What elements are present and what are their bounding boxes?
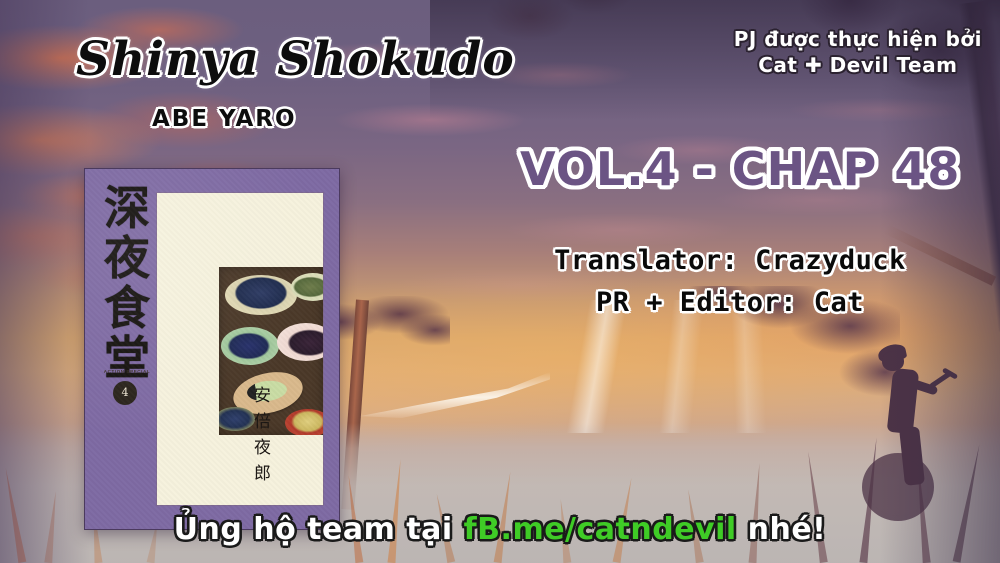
series-author: ABE YARO [152, 106, 297, 132]
support-banner-suffix: nhé! [737, 512, 827, 547]
staff-credits: Translator: Crazyduck PR + Editor: Cat [500, 240, 960, 324]
team-credit-line-1: PJ được thực hiện bởi [734, 26, 982, 52]
food-red-bowl [285, 409, 323, 435]
book-cover-image: 安 倍 夜 郎 深 夜 食 堂 ACTION SPECIAL 4 [84, 168, 340, 530]
series-title: Shinya Shokudo [76, 34, 515, 86]
book-author-kanji-char: 安 [243, 383, 283, 409]
book-cover-volume-badge: 4 [113, 381, 137, 405]
book-title-kanji-char: 夜 [91, 233, 163, 283]
team-credit-line-2: Cat ✚ Devil Team [734, 52, 982, 78]
support-banner: Ủng hộ team tại fB.me/catndevil nhé! [0, 511, 1000, 549]
book-title-kanji-char: 深 [91, 183, 163, 233]
book-title-kanji-char: 堂 [91, 333, 163, 383]
scanlation-team-credit: PJ được thực hiện bởi Cat ✚ Devil Team [734, 26, 982, 78]
support-banner-prefix: Ủng hộ team tại [174, 512, 464, 547]
translator-credit: Translator: Crazyduck [500, 240, 960, 282]
book-cover-title-kanji: 深 夜 食 堂 [91, 183, 163, 383]
book-cover-panel: 安 倍 夜 郎 [157, 193, 323, 505]
book-cover-author-kanji: 安 倍 夜 郎 [243, 383, 283, 487]
food-dish-cream-plate [277, 323, 323, 361]
editor-credit: PR + Editor: Cat [500, 282, 960, 324]
facebook-url-link[interactable]: fB.me/catndevil [464, 512, 737, 547]
food-dish-top-left [225, 275, 297, 315]
chapter-title: VOL.4 - CHAP 48 [520, 142, 940, 196]
food-dish-green-plate [221, 327, 279, 365]
credits-page: 安 倍 夜 郎 深 夜 食 堂 ACTION SPECIAL 4 Shinya … [0, 0, 1000, 563]
book-author-kanji-char: 夜 [243, 435, 283, 461]
book-title-kanji-char: 食 [91, 283, 163, 333]
book-author-kanji-char: 郎 [243, 461, 283, 487]
book-cover-imprint: ACTION SPECIAL [99, 369, 155, 374]
book-author-kanji-char: 倍 [243, 409, 283, 435]
